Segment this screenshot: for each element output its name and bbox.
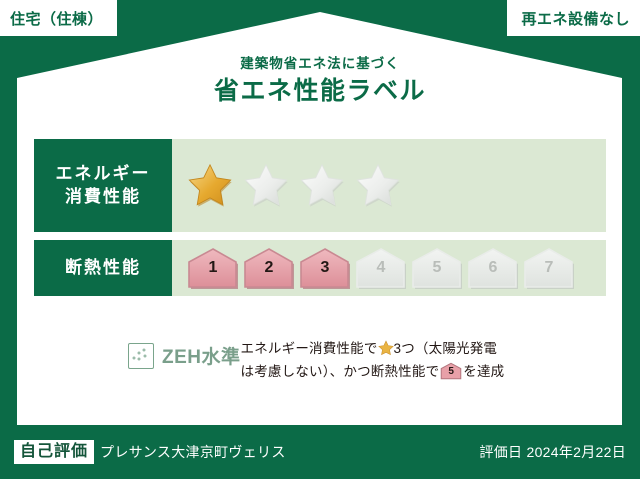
evaluation-date: 評価日 2024年2月22日	[479, 442, 626, 462]
zeh-chart-icon	[128, 343, 154, 369]
insulation-performance-label-box: 断熱性能	[34, 240, 172, 296]
star-rating	[184, 161, 404, 211]
zeh-note-section: ZEH水準 エネルギー消費性能で3つ（太陽光発電 は考慮しない）、かつ断熱性能で…	[34, 336, 606, 384]
insulation-grade-badge: 4	[354, 246, 408, 290]
building-name: プレサンス大津京町ヴェリス	[100, 442, 286, 462]
insulation-grade-value: 3	[298, 260, 352, 276]
insulation-grade-badge: 1	[186, 246, 240, 290]
star-empty-icon	[296, 161, 348, 211]
achievement-note-line1-after: 3つ（太陽光発電	[394, 341, 498, 356]
insulation-grade-badge: 2	[242, 246, 296, 290]
insulation-grade-badge: 6	[466, 246, 520, 290]
inline-star-icon	[378, 340, 394, 356]
star-filled-icon	[184, 161, 236, 211]
achievement-note-line1-before: エネルギー消費性能で	[241, 341, 378, 356]
star-empty-icon	[352, 161, 404, 211]
energy-performance-value	[172, 139, 606, 232]
zeh-standard-block: ZEH水準	[34, 336, 241, 369]
insulation-grade-value: 7	[522, 260, 576, 276]
insulation-grade-value: 4	[354, 260, 408, 276]
building-type-tag-label: 住宅（住棟）	[10, 8, 103, 29]
renewable-equipment-tag: 再エネ設備なし	[507, 0, 640, 36]
energy-performance-row: エネルギー 消費性能	[34, 139, 606, 232]
energy-performance-label-line2: 消費性能	[65, 186, 141, 209]
insulation-grade-value: 1	[186, 260, 240, 276]
insulation-grade-value: 2	[242, 260, 296, 276]
renewable-equipment-tag-label: 再エネ設備なし	[521, 8, 630, 29]
evaluation-type-badge: 自己評価	[14, 440, 94, 465]
achievement-note-line2-before: は考慮しない）、かつ断熱性能で	[241, 364, 440, 379]
insulation-grade-badge: 5	[410, 246, 464, 290]
achievement-note-line2-after: を達成	[463, 364, 504, 379]
label-title: 省エネ性能ラベル	[0, 75, 640, 108]
achievement-note-line1: エネルギー消費性能で3つ（太陽光発電	[241, 338, 606, 361]
inline-insulation-grade-value: 5	[440, 367, 462, 377]
achievement-note-line2: は考慮しない）、かつ断熱性能で5を達成	[241, 361, 606, 384]
insulation-performance-label-line1: 断熱性能	[65, 257, 141, 280]
star-empty-icon	[240, 161, 292, 211]
insulation-grade-value: 5	[410, 260, 464, 276]
energy-performance-label-line1: エネルギー	[56, 163, 151, 186]
inline-insulation-grade-badge: 5	[440, 362, 462, 380]
zeh-standard-label: ZEH水準	[162, 342, 241, 369]
label-title-block: 建築物省エネ法に基づく 省エネ性能ラベル	[0, 56, 640, 108]
insulation-performance-row: 断熱性能 1234567	[34, 240, 606, 296]
energy-performance-label-box: エネルギー 消費性能	[34, 139, 172, 232]
label-subtitle: 建築物省エネ法に基づく	[0, 56, 640, 72]
label-footer: 自己評価 プレサンス大津京町ヴェリス 評価日 2024年2月22日	[0, 425, 640, 479]
energy-performance-label: 住宅（住棟） 再エネ設備なし 建築物省エネ法に基づく 省エネ性能ラベル エネルギ…	[0, 0, 640, 479]
insulation-performance-value: 1234567	[172, 240, 606, 296]
achievement-note: エネルギー消費性能で3つ（太陽光発電 は考慮しない）、かつ断熱性能で5を達成	[241, 336, 606, 384]
insulation-grade-badge: 3	[298, 246, 352, 290]
insulation-grade-badge: 7	[522, 246, 576, 290]
insulation-grade-scale: 1234567	[186, 246, 576, 290]
building-type-tag: 住宅（住棟）	[0, 0, 117, 36]
insulation-grade-value: 6	[466, 260, 520, 276]
rating-panel: エネルギー 消費性能 断熱性能 1234567	[34, 139, 606, 304]
